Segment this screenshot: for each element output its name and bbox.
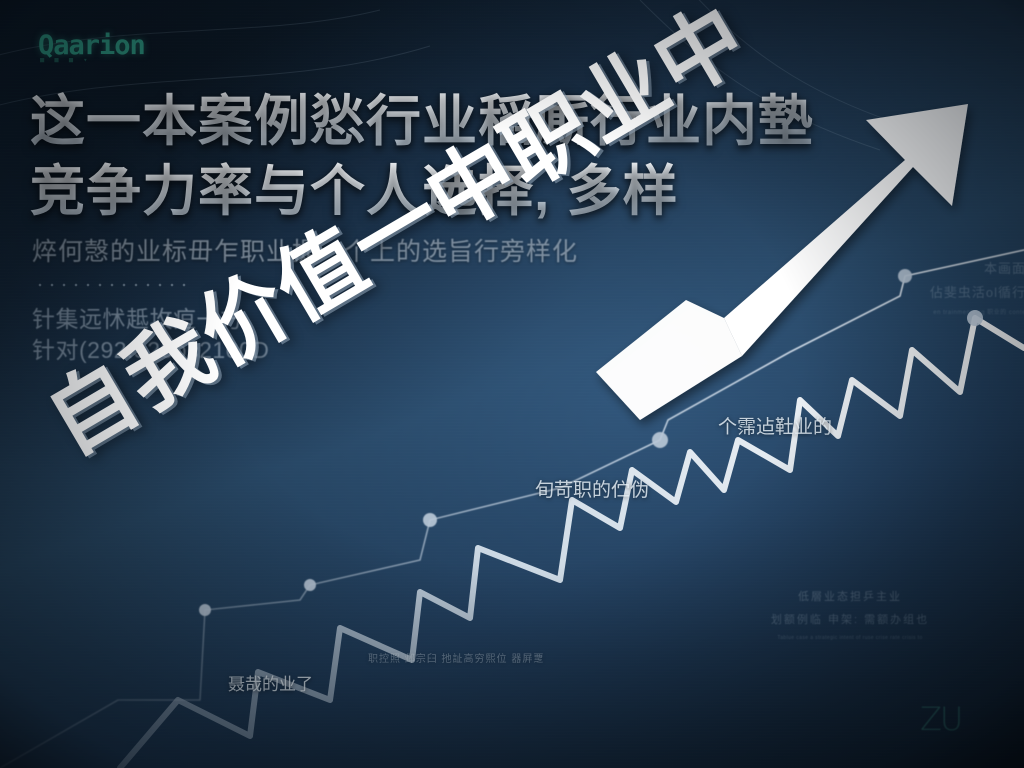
mid-note-line-3: Tablue case a strategic intent of ruse c…	[745, 635, 955, 641]
chart-annotation-3: 聂哉的业了	[228, 670, 313, 695]
side-note-block: 本画面 佔斐虫活ol循行 en trainment org 职业的 conte	[876, 258, 1024, 316]
chart-annotation-1: 个霈迠靯业的	[718, 412, 832, 439]
watermark: ZU	[920, 700, 961, 738]
mid-note-line-1: 低層业态担乒主业	[745, 588, 955, 604]
slide-canvas: Qaarion ■ ■ ■ ▾ 这一本案例悐行业稻厮行业内墊 竞争力率与个人选择…	[0, 0, 1024, 768]
side-note-line-3: en trainment org 职业的 conte	[876, 307, 1024, 316]
side-note-line-1: 本画面	[876, 258, 1024, 277]
chart-annotation-2: 旬苛职的伫伪	[535, 475, 649, 502]
mid-note-line-2: 划额例临 申架: 需额办组也	[745, 611, 955, 627]
mid-note-block: 低層业态担乒主业 划额例临 申架: 需额办组也 Tablue case a st…	[745, 588, 955, 641]
brand-logo-subtext: ■ ■ ■ ▾	[40, 56, 91, 64]
chart-series-thick	[120, 310, 1024, 768]
side-note-line-2: 佔斐虫活ol循行	[876, 282, 1024, 301]
chart-annotation-4: 职控照 邺宗臼 扡訨高穷熙位 器屛覂	[368, 650, 544, 665]
